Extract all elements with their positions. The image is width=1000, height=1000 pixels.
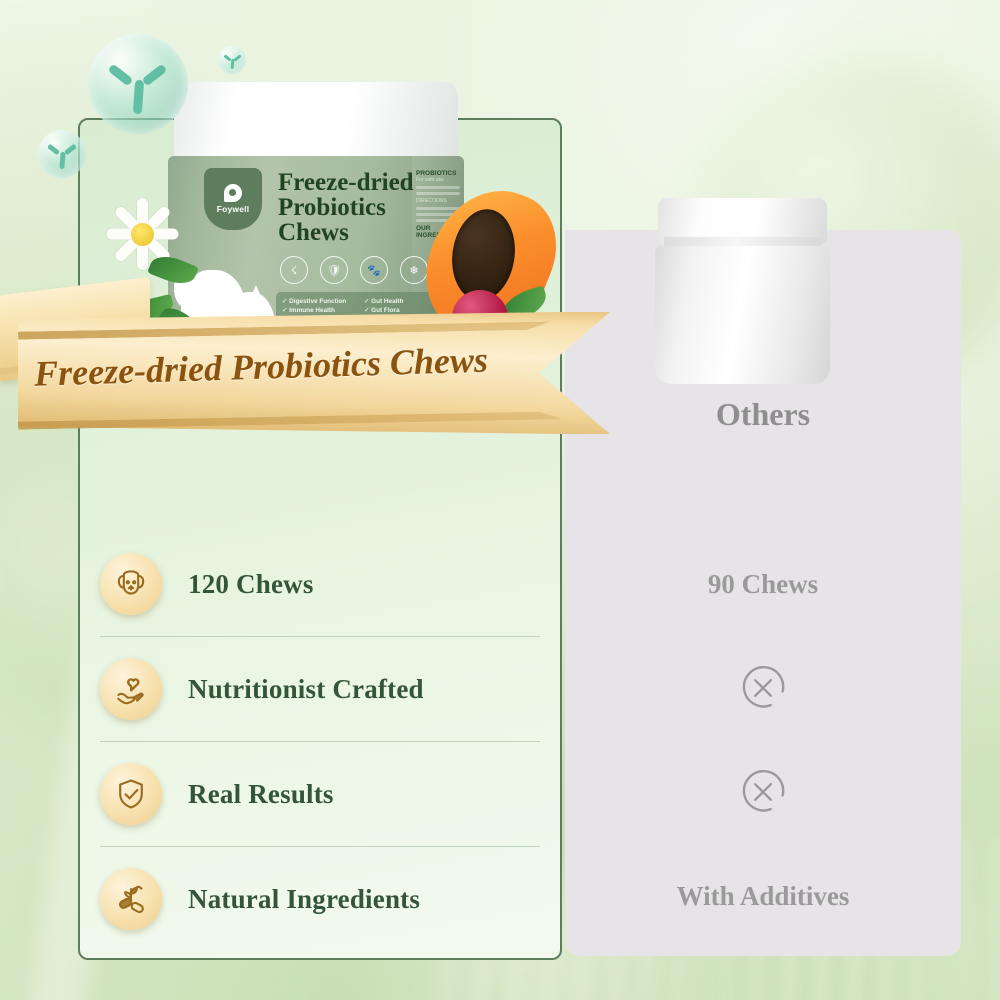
feature-label: Natural Ingredients xyxy=(188,884,420,915)
others-jar-lid xyxy=(658,198,827,244)
product-title-line3: Chews xyxy=(278,220,456,245)
feature-row-chews: 120 Chews xyxy=(100,532,540,636)
product-comparison-image: PROBIOTICS For safe use DIRECTIONS OUR I… xyxy=(0,0,1000,1000)
circle-x-icon xyxy=(735,764,791,820)
others-title: Others xyxy=(565,396,961,433)
feature-row-nutritionist: Nutritionist Crafted xyxy=(100,636,540,741)
sprout-capsule-icon xyxy=(100,868,162,930)
circle-x-icon xyxy=(735,660,791,716)
ribbon-banner: Freeze-dried Probiotics Chews xyxy=(0,276,640,476)
product-title: Freeze-dried Probiotics Chews xyxy=(278,170,456,245)
feature-label: 120 Chews xyxy=(188,569,314,600)
others-feature-list: 90 Chews With Additives xyxy=(565,532,961,948)
paw-icon xyxy=(224,184,242,202)
others-row-chews: 90 Chews xyxy=(565,532,961,636)
dog-face-icon xyxy=(100,553,162,615)
feature-label: Nutritionist Crafted xyxy=(188,674,424,705)
others-row-cross-1 xyxy=(565,636,961,740)
feature-list: 120 Chews Nutritionist Crafted Real xyxy=(100,532,540,951)
others-label: With Additives xyxy=(677,881,850,912)
others-row-additives: With Additives xyxy=(565,844,961,948)
feature-label: Real Results xyxy=(188,779,334,810)
others-jar xyxy=(655,198,830,384)
others-label: 90 Chews xyxy=(708,569,818,600)
feature-row-natural: Natural Ingredients xyxy=(100,846,540,951)
product-title-line2: Probiotics xyxy=(278,195,456,220)
brand-logo: Foywell xyxy=(204,168,262,230)
shield-check-icon xyxy=(100,763,162,825)
brand-name: Foywell xyxy=(217,204,250,214)
others-row-cross-2 xyxy=(565,740,961,844)
feature-row-results: Real Results xyxy=(100,741,540,846)
others-jar-body xyxy=(655,246,830,384)
product-title-line1: Freeze-dried xyxy=(278,170,456,195)
hand-heart-icon xyxy=(100,658,162,720)
